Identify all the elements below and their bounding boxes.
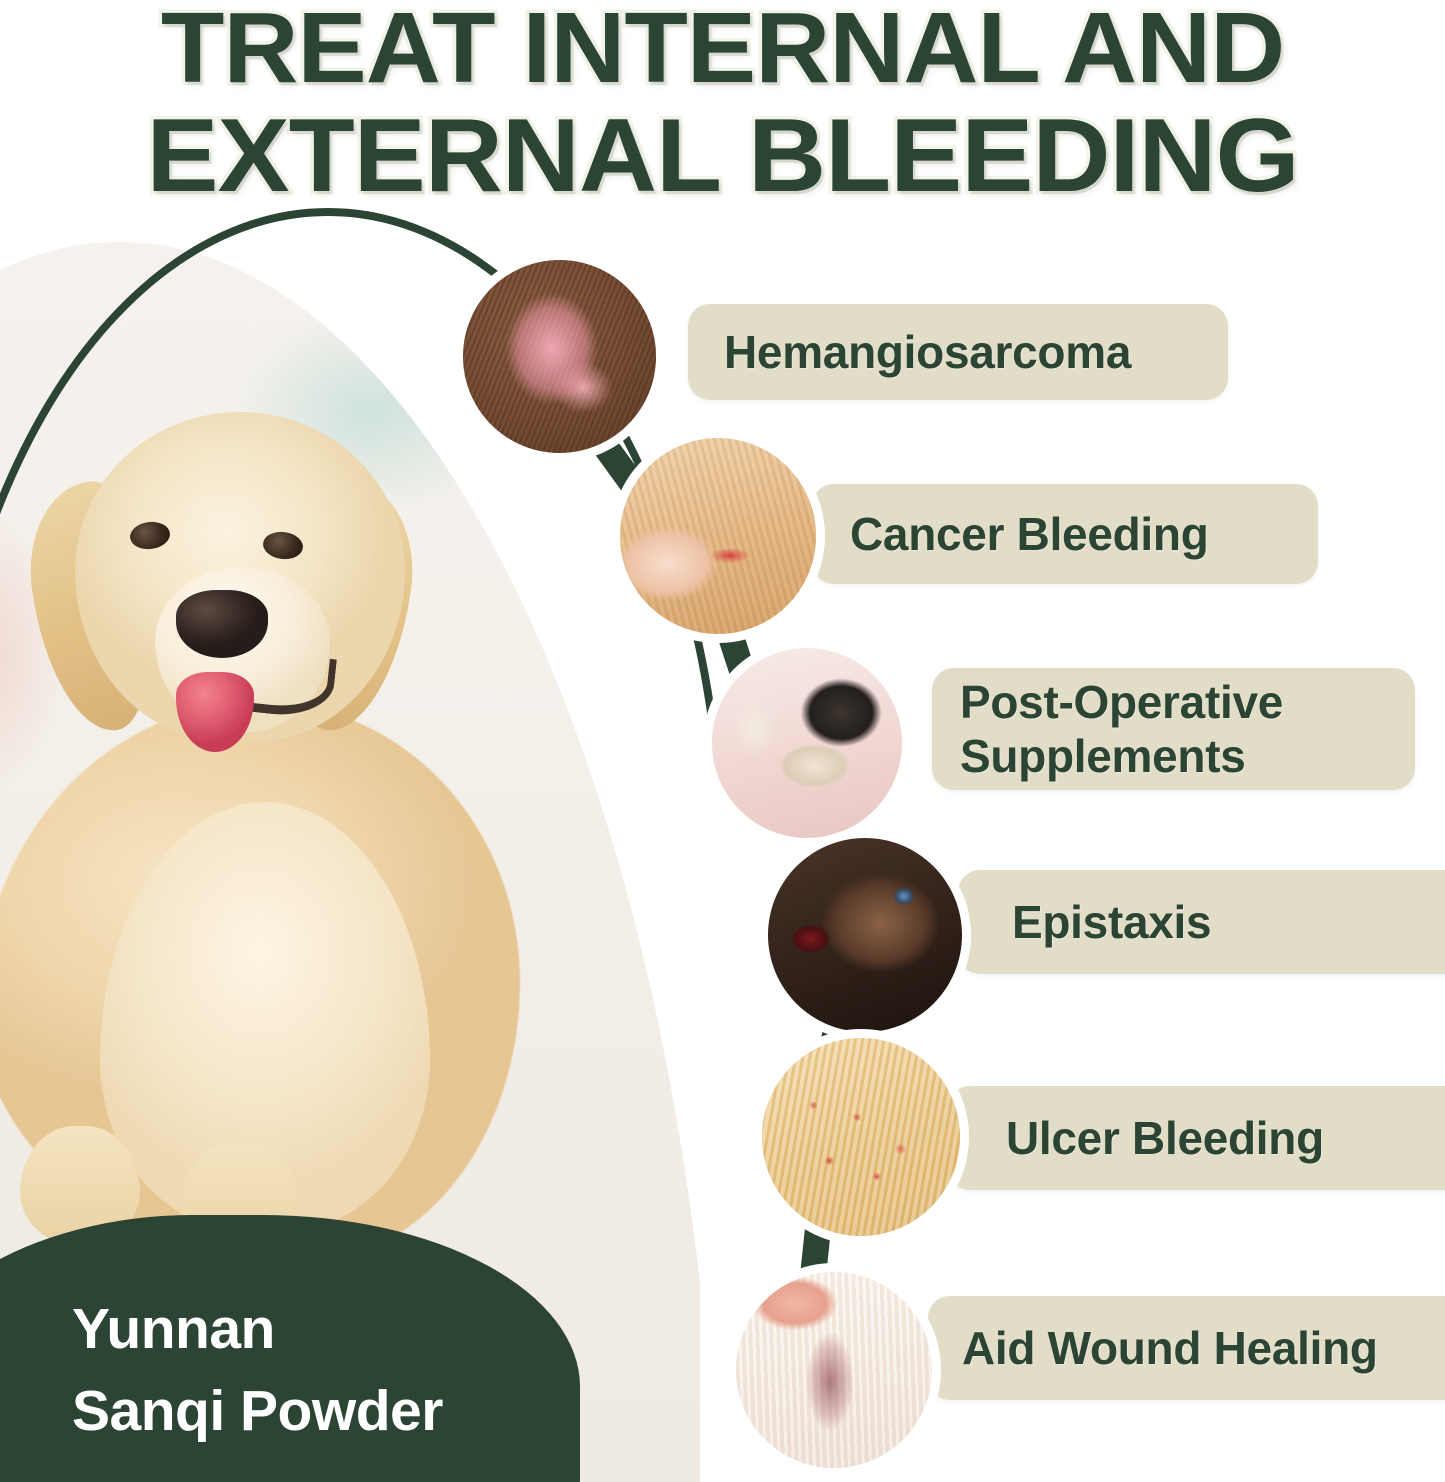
hemangiosarcoma-photo — [463, 260, 656, 453]
benefit-image-bubble[interactable] — [712, 648, 902, 838]
benefit-pill[interactable]: Hemangiosarcoma — [688, 304, 1228, 400]
benefit-label: Epistaxis — [1012, 895, 1211, 949]
benefit-image-bubble[interactable] — [736, 1272, 932, 1468]
benefit-label: Aid Wound Healing — [962, 1321, 1378, 1375]
benefit-label: Ulcer Bleeding — [1006, 1111, 1324, 1165]
dog-illustration — [0, 372, 540, 1272]
benefit-label: Cancer Bleeding — [850, 507, 1209, 561]
title-line-1: TREAT INTERNAL AND — [0, 0, 1445, 102]
page-title: TREAT INTERNAL AND EXTERNAL BLEEDING — [0, 0, 1445, 224]
brand-line-2: Sanqi Powder — [72, 1370, 443, 1452]
benefit-pill[interactable]: Ulcer Bleeding — [948, 1086, 1445, 1190]
cancer-bleeding-photo — [620, 438, 816, 634]
benefit-pill[interactable]: Post-Operative Supplements — [932, 668, 1415, 790]
benefit-label: Post-Operative Supplements — [960, 675, 1283, 783]
benefit-pill[interactable]: Aid Wound Healing — [928, 1296, 1445, 1400]
benefit-image-bubble[interactable] — [768, 838, 962, 1032]
brand-line-1: Yunnan — [72, 1288, 443, 1370]
epistaxis-photo — [768, 838, 962, 1032]
benefit-label: Hemangiosarcoma — [724, 325, 1131, 379]
benefit-pill[interactable]: Cancer Bleeding — [812, 484, 1318, 584]
post-operative-photo — [712, 648, 902, 838]
benefit-image-bubble[interactable] — [620, 438, 816, 634]
benefit-image-bubble[interactable] — [762, 1038, 960, 1236]
brand-name: Yunnan Sanqi Powder — [72, 1288, 443, 1452]
benefit-pill[interactable]: Epistaxis — [958, 870, 1445, 974]
benefit-image-bubble[interactable] — [463, 260, 656, 453]
infographic-page: TREAT INTERNAL AND EXTERNAL BLEEDING — [0, 0, 1445, 1482]
ulcer-bleeding-photo — [762, 1038, 960, 1236]
aid-wound-healing-photo — [736, 1272, 932, 1468]
title-line-2: EXTERNAL BLEEDING — [0, 102, 1445, 210]
